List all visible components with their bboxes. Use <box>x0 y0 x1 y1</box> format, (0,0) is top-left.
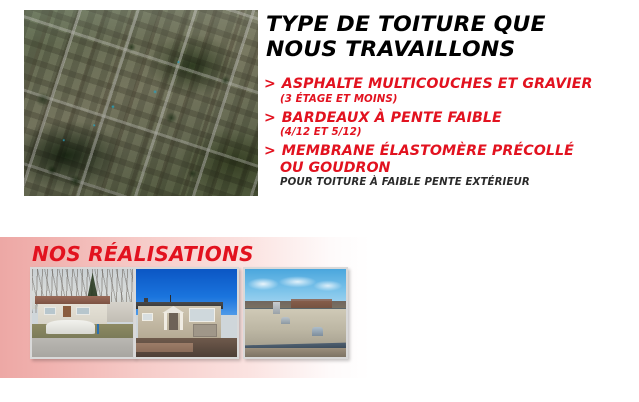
roof-type-label: ASPHALTE MULTICOUCHES ET GRAVIER <box>282 76 593 93</box>
clouds <box>245 273 346 296</box>
thumbnail-image-flat-roof <box>245 269 346 357</box>
roof-types-list: > ASPHALTE MULTICOUCHES ET GRAVIER (3 ÉT… <box>264 76 638 189</box>
roof-type-label-continued: OU GOUDRON <box>280 160 638 177</box>
roof-type-note: POUR TOITURE À FAIBLE PENTE EXTÉRIEUR <box>280 176 638 189</box>
thumbnail-image-bungalow <box>32 269 133 357</box>
roof-type-note: (3 ÉTAGE ET MOINS) <box>280 93 638 106</box>
thumbnail-image-house-blue-sky <box>136 269 237 357</box>
roof-vent <box>281 317 290 324</box>
aerial-neighbourhood-photo <box>24 10 258 196</box>
roof-type-item: > BARDEAUX À PENTE FAIBLE (4/12 ET 5/12) <box>264 110 638 140</box>
page-title-line-1: TYPE DE TOITURE QUE <box>266 12 639 37</box>
blue-post <box>97 324 99 335</box>
page-title-line-2: NOUS TRAVAILLONS <box>266 37 639 62</box>
realisation-thumbnail[interactable] <box>134 267 239 359</box>
roof-type-note: (4/12 ET 5/12) <box>280 126 638 139</box>
window <box>44 307 56 315</box>
roof-vent <box>312 327 323 336</box>
tarp-cover <box>46 320 94 334</box>
roof-type-label: BARDEAUX À PENTE FAIBLE <box>282 110 502 127</box>
roof-type-item: > MEMBRANE ÉLASTOMÈRE PRÉCOLLÉ OU GOUDRO… <box>264 143 638 189</box>
front-door <box>169 313 178 330</box>
roof-type-item: > ASPHALTE MULTICOUCHES ET GRAVIER (3 ÉT… <box>264 76 638 106</box>
bay-window <box>189 308 215 322</box>
flat-roof-deck <box>245 309 346 346</box>
foreground-surface <box>245 348 346 357</box>
garage-door <box>193 324 217 337</box>
chevron-right-icon: > <box>264 143 276 159</box>
roof-types-section: TYPE DE TOITURE QUE NOUS TRAVAILLONS > A… <box>0 0 639 225</box>
chevron-right-icon: > <box>264 110 276 126</box>
aerial-atmospheric-haze <box>24 10 258 196</box>
roof-type-label: MEMBRANE ÉLASTOMÈRE PRÉCOLLÉ <box>282 143 574 160</box>
house-roof <box>35 296 110 304</box>
chevron-right-icon: > <box>264 76 276 92</box>
page-title: TYPE DE TOITURE QUE NOUS TRAVAILLONS <box>266 12 636 62</box>
realisation-thumbnail[interactable] <box>30 267 135 359</box>
realisation-thumbnail[interactable] <box>243 267 348 359</box>
portico-column <box>180 312 183 330</box>
front-door <box>63 306 71 317</box>
neighbour-house <box>105 302 133 321</box>
roof-vent <box>273 302 280 314</box>
window <box>76 307 89 315</box>
walkway <box>136 343 193 352</box>
realisations-title: NOS RÉALISATIONS <box>32 242 254 266</box>
driveway <box>32 338 133 357</box>
portico-column <box>164 312 167 330</box>
window <box>142 313 153 321</box>
